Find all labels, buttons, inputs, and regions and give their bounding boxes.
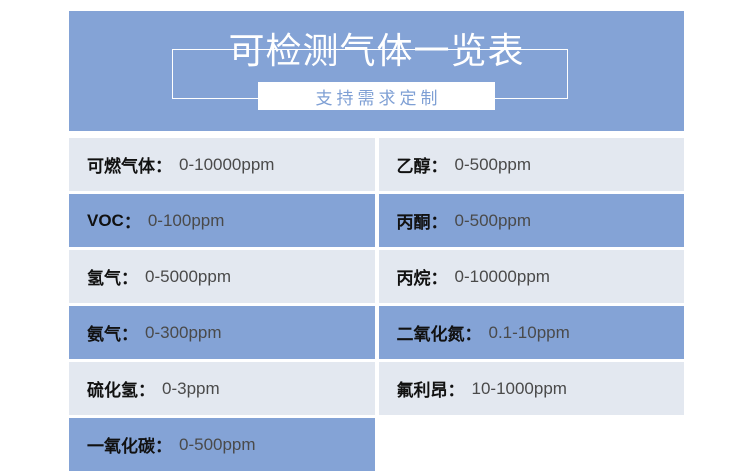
table-row: VOC：0-100ppm (69, 194, 375, 247)
gas-separator: ： (124, 208, 141, 233)
gas-name: 可燃气体 (87, 152, 155, 177)
table-row: 可燃气体：0-10000ppm (69, 138, 375, 191)
gas-name: 氟利昂 (397, 376, 448, 401)
gas-separator: ： (465, 320, 482, 345)
gas-range: 0-500ppm (455, 155, 532, 175)
gas-range: 0-10000ppm (179, 155, 274, 175)
gas-range: 0.1-10ppm (489, 323, 570, 343)
gas-range: 0-100ppm (148, 211, 225, 231)
gas-separator: ： (431, 208, 448, 233)
gas-range: 10-1000ppm (472, 379, 567, 399)
gas-list-poster: 可检测气体一览表 支持需求定制 可燃气体：0-10000ppmVOC：0-100… (0, 0, 750, 474)
gas-name: 乙醇 (397, 152, 431, 177)
table-row: 丙烷：0-10000ppm (379, 250, 685, 303)
gas-name: 丙酮 (397, 208, 431, 233)
banner: 可检测气体一览表 支持需求定制 (69, 11, 684, 131)
gas-name: 氨气 (87, 320, 121, 345)
table-row: 二氧化氮：0.1-10ppm (379, 306, 685, 359)
gas-table-left-column: 可燃气体：0-10000ppmVOC：0-100ppm氢气：0-5000ppm氨… (69, 138, 375, 471)
table-row: 丙酮：0-500ppm (379, 194, 685, 247)
gas-separator: ： (431, 152, 448, 177)
table-row-empty (379, 418, 685, 471)
gas-table-right-column: 乙醇：0-500ppm丙酮：0-500ppm丙烷：0-10000ppm二氧化氮：… (379, 138, 685, 471)
gas-name: 氢气 (87, 264, 121, 289)
gas-range: 0-500ppm (179, 435, 256, 455)
gas-separator: ： (431, 264, 448, 289)
gas-range: 0-300ppm (145, 323, 222, 343)
table-row: 乙醇：0-500ppm (379, 138, 685, 191)
gas-name: VOC (87, 211, 124, 231)
table-row: 氨气：0-300ppm (69, 306, 375, 359)
gas-name: 丙烷 (397, 264, 431, 289)
banner-subtitle: 支持需求定制 (312, 84, 442, 109)
gas-range: 0-5000ppm (145, 267, 231, 287)
table-row: 氟利昂：10-1000ppm (379, 362, 685, 415)
gas-range: 0-500ppm (455, 211, 532, 231)
gas-name: 一氧化碳 (87, 432, 155, 457)
banner-subtitle-box: 支持需求定制 (258, 82, 495, 110)
table-row: 硫化氢：0-3ppm (69, 362, 375, 415)
gas-name: 二氧化氮 (397, 320, 465, 345)
gas-range: 0-10000ppm (455, 267, 550, 287)
gas-separator: ： (121, 320, 138, 345)
gas-separator: ： (448, 376, 465, 401)
gas-separator: ： (155, 432, 172, 457)
gas-separator: ： (138, 376, 155, 401)
gas-separator: ： (155, 152, 172, 177)
gas-table: 可燃气体：0-10000ppmVOC：0-100ppm氢气：0-5000ppm氨… (69, 138, 684, 471)
gas-name: 硫化氢 (87, 376, 138, 401)
page-title: 可检测气体一览表 (69, 29, 684, 73)
table-row: 一氧化碳：0-500ppm (69, 418, 375, 471)
gas-range: 0-3ppm (162, 379, 220, 399)
table-row: 氢气：0-5000ppm (69, 250, 375, 303)
gas-separator: ： (121, 264, 138, 289)
